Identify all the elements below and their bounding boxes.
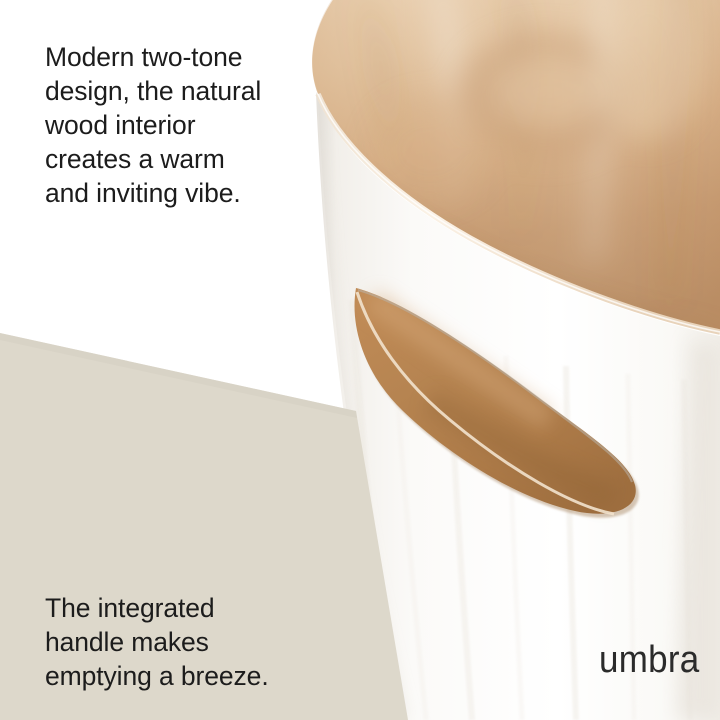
umbra-brand-logo: umbra	[599, 641, 699, 679]
headline-copy-bottom: The integrated handle makes emptying a b…	[45, 591, 315, 693]
product-feature-image: Modern two-tone design, the natural wood…	[0, 0, 720, 720]
headline-copy-top: Modern two-tone design, the natural wood…	[45, 40, 315, 210]
